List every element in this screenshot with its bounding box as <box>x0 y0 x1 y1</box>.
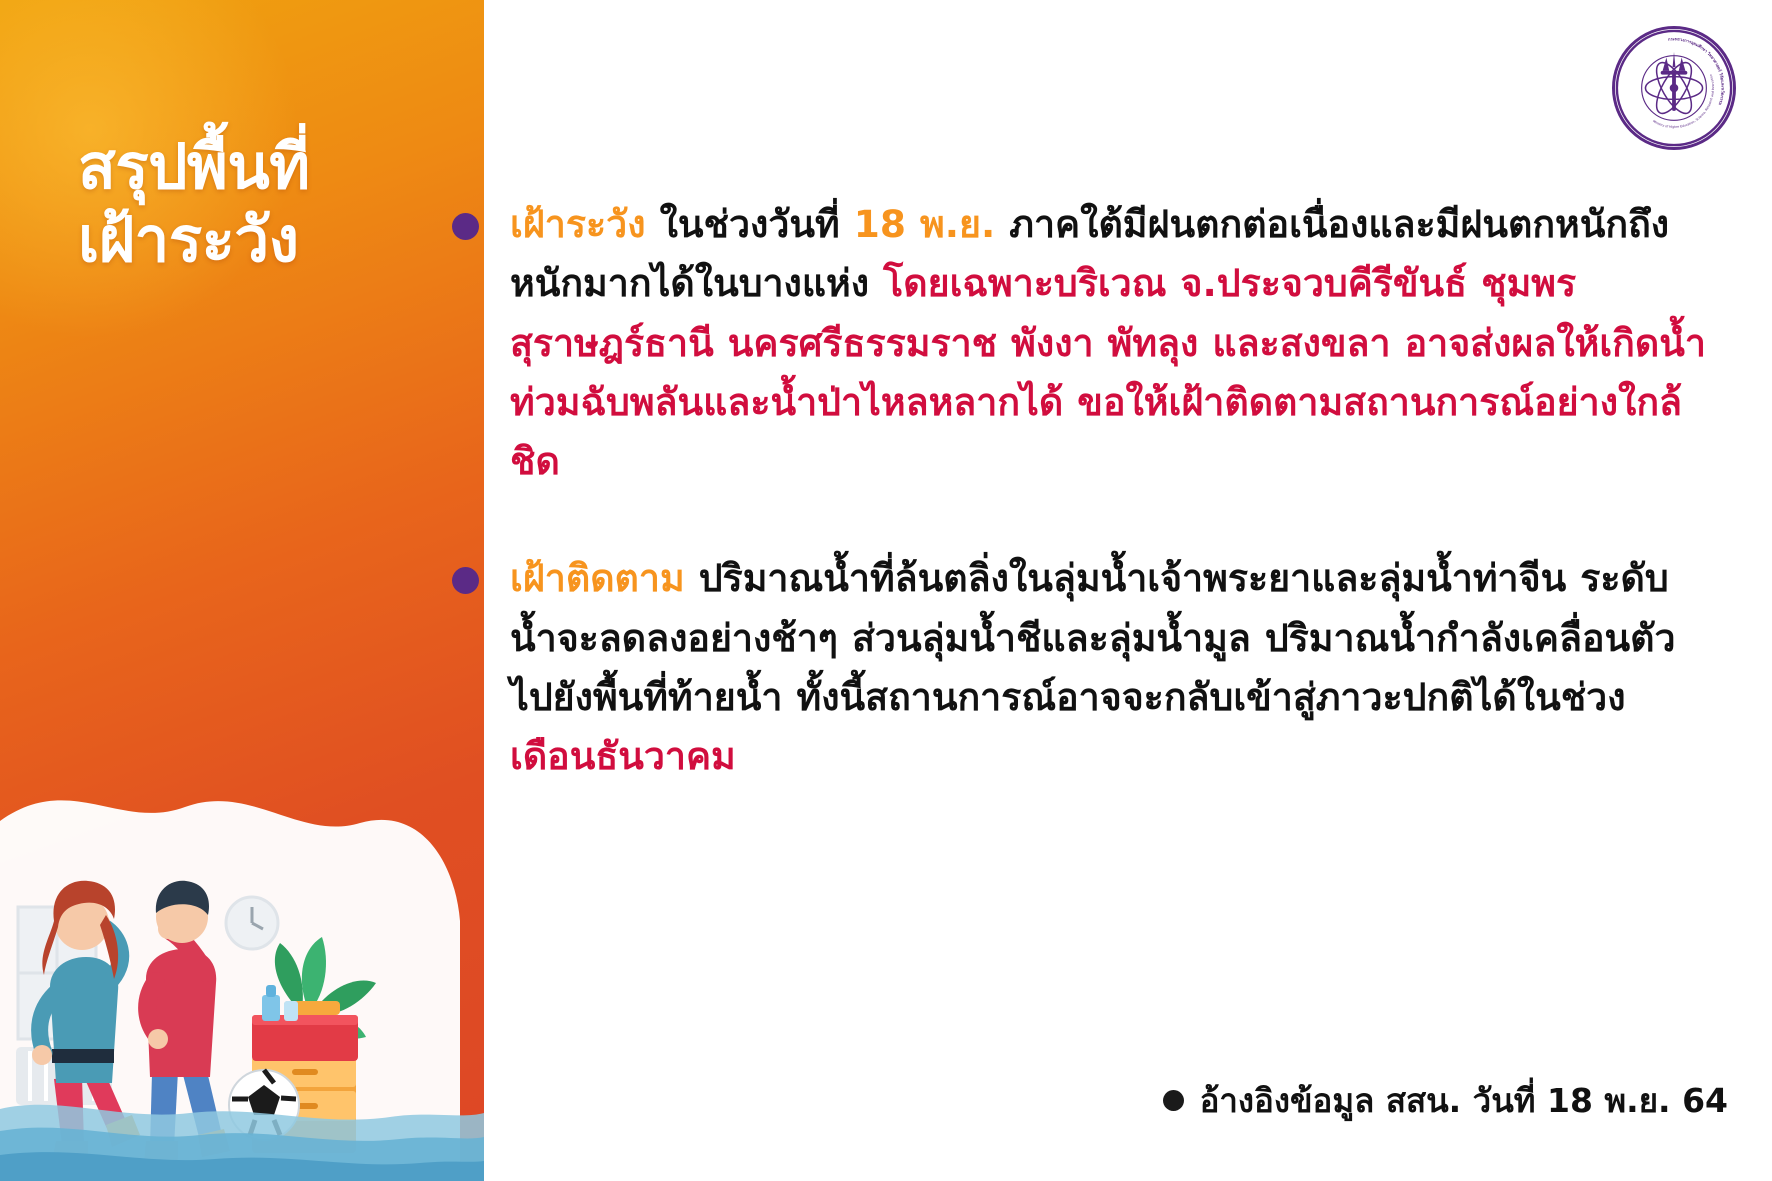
source-text: อ้างอิงข้อมูล สสน. วันที่ 18 พ.ย. 64 <box>1200 1074 1728 1127</box>
footer-dot-icon <box>1163 1090 1184 1111</box>
bullet-watch-block: เฝ้าระวัง ในช่วงวันที่ 18 พ.ย. ภาคใต้มีฝ… <box>510 195 1710 491</box>
flood-illustration <box>0 711 484 1181</box>
bullet-monitor-lead: เฝ้าติดตาม <box>510 556 699 600</box>
page-title: สรุปพื้นที่ เฝ้าระวัง <box>78 130 468 276</box>
ministry-logo: กระทรวงการอุดมศึกษา วิทยาศาสตร์ วิจัยและ… <box>1612 26 1736 150</box>
bullet-monitor-month: เดือนธันวาคม <box>510 734 736 778</box>
infographic-canvas: สรุปพื้นที่ เฝ้าระวัง <box>0 0 1772 1181</box>
content-area: เฝ้าระวัง ในช่วงวันที่ 18 พ.ย. ภาคใต้มีฝ… <box>510 195 1710 844</box>
bullet-dot-icon <box>452 213 479 240</box>
source-footer: อ้างอิงข้อมูล สสน. วันที่ 18 พ.ย. 64 <box>1163 1074 1728 1127</box>
bullet-watch-lead: เฝ้าระวัง <box>510 202 660 246</box>
bullet-watch-paragraph: เฝ้าระวัง ในช่วงวันที่ 18 พ.ย. ภาคใต้มีฝ… <box>510 195 1710 491</box>
bullet-monitor-block: เฝ้าติดตาม ปริมาณน้ำที่ล้นตลิ่งในลุ่มน้ำ… <box>510 549 1710 786</box>
bullet-watch-date: 18 พ.ย. <box>854 202 1009 246</box>
left-gradient-panel: สรุปพื้นที่ เฝ้าระวัง <box>0 0 484 1181</box>
bullet-monitor-paragraph: เฝ้าติดตาม ปริมาณน้ำที่ล้นตลิ่งในลุ่มน้ำ… <box>510 549 1710 786</box>
bullet-watch-seg-1: ในช่วงวันที่ <box>660 202 854 246</box>
